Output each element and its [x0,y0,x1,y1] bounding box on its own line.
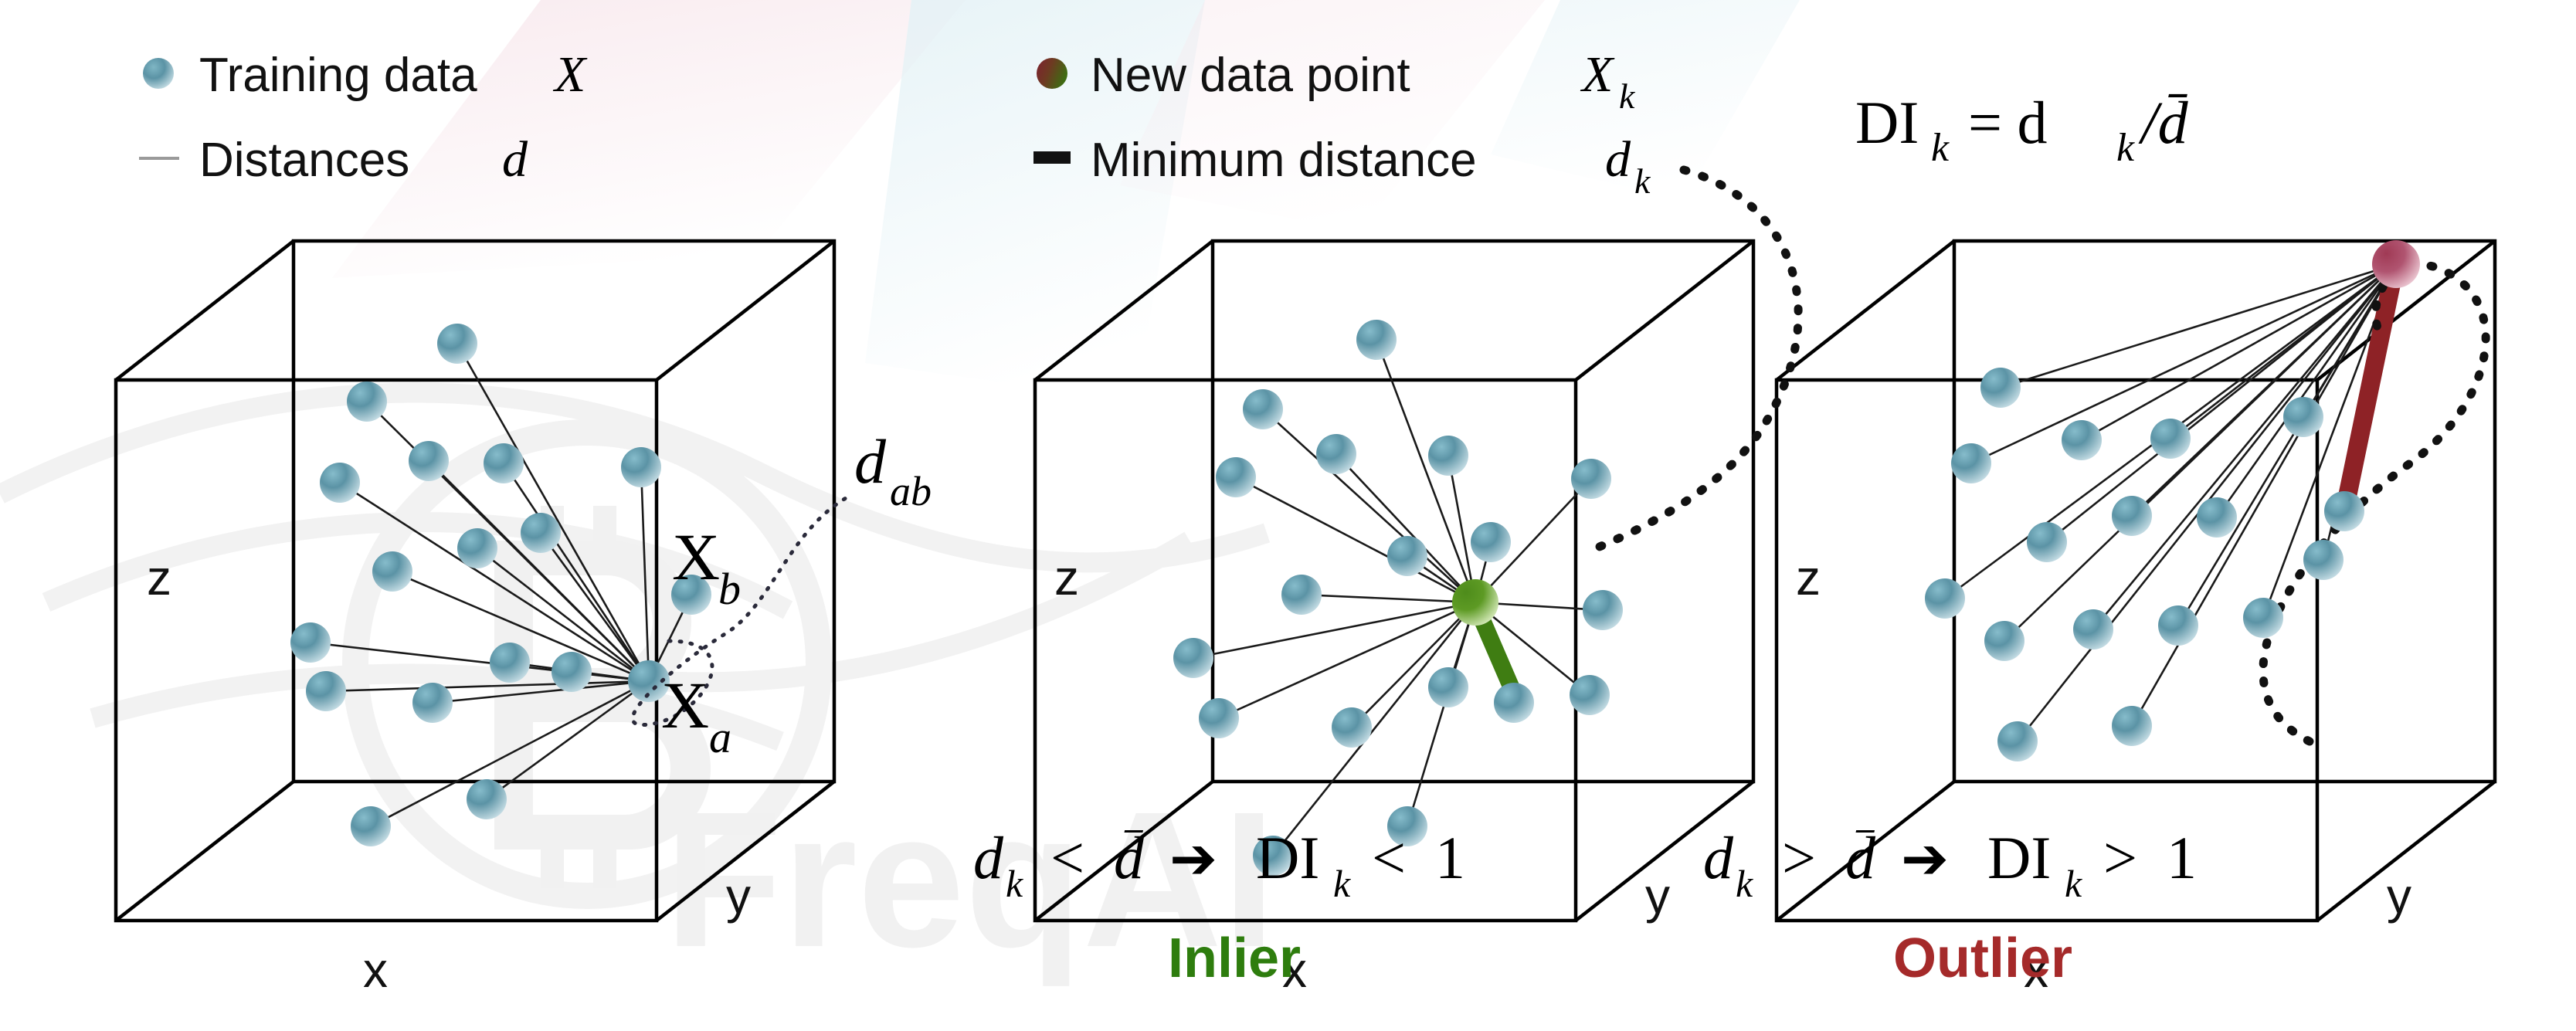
outlier-rhs-sub: k [2065,862,2082,905]
legend-item-minimum-distance: Minimum distance d k [1033,131,1651,201]
di-formula-tail: /d̄ [2138,89,2189,156]
di-formula: DI k = d k /d̄ [1855,89,2189,170]
training-point [552,652,592,692]
new-point-marker-icon [1037,58,1067,89]
inlier-mid-symbol: d̄ [1114,830,1145,891]
legend-symbol-new-data-point: X [1580,46,1615,103]
legend-symbol-distances: d [502,131,528,188]
training-point [2112,496,2152,536]
training-point [2027,522,2067,562]
inlier-lhs-sub: k [1006,862,1023,905]
legend-label-new-data-point: New data point [1091,49,1410,102]
caption-outlier: d k > d̄ ➔ DI k > 1 Outlier [1680,830,2452,1031]
inlier-condition-formula: d k < d̄ ➔ DI k < 1 [973,830,1465,905]
di-formula-sub-k: k [1931,126,1950,170]
axis-label-x-training: x [363,942,388,998]
legend-label-training-data: Training data [199,49,477,102]
training-point [1428,667,1468,707]
training-point-marker-icon [143,58,174,89]
training-point-nearest-outlier [2324,491,2364,531]
training-point [1387,536,1427,576]
axis-z-inlier-wrap: z [1047,541,1201,633]
training-point [1571,459,1611,499]
training-point [1583,590,1623,630]
outlier-relation: > [1782,830,1816,891]
training-point [484,443,524,483]
legend-label-distances: Distances [199,134,409,187]
inlier-lhs-symbol: d [973,830,1004,891]
training-point [457,528,497,568]
inlier-arrow-icon: ➔ [1169,830,1217,891]
di-formula-di: DI [1855,89,1919,156]
training-point [372,551,412,592]
training-points-group-inlier [1173,320,1623,876]
training-point [347,382,387,422]
training-point [2073,609,2113,649]
verdict-inlier: Inlier [1168,928,1301,989]
legend-symbol-sub-minimum-distance: k [1634,161,1651,201]
inlier-relation: < [1050,830,1084,891]
verdict-outlier: Outlier [1893,928,2072,989]
inlier-rhs-symbol: DI [1256,830,1319,891]
caption-inlier: d k < d̄ ➔ DI k < 1 Inlier [950,830,1722,1031]
label-xb-symbol: X [672,520,720,594]
di-formula-sub-k2: k [2116,126,2135,170]
min-distance-marker-icon [1033,151,1071,164]
training-point [290,622,331,663]
legend-symbol-sub-new-data-point: k [1619,76,1636,116]
axis-label-z-outlier: z [1796,550,1821,605]
new-data-point-inlier [1452,579,1498,626]
training-point [2158,605,2198,646]
training-point [521,513,561,553]
training-point [1281,575,1322,615]
training-point [621,447,661,487]
outlier-rhs-symbol: DI [1987,830,2051,891]
inlier-rhs-value: 1 [1435,830,1465,891]
legend: Training data X Distances d New data poi… [0,0,2576,201]
outlier-lhs-symbol: d [1703,830,1734,891]
inlier-rhs-sub: k [1333,862,1351,905]
training-point [412,683,453,723]
training-point [2197,497,2237,538]
legend-item-new-data-point: New data point X k [1037,46,1636,116]
callout-label-dab-symbol: d [854,426,887,497]
training-point [1173,638,1213,678]
training-point [437,324,477,364]
di-formula-equals: = d [1968,89,2048,156]
callout-label-dab-sub: ab [890,468,932,514]
training-point [1316,434,1356,474]
training-point [409,441,449,481]
outlier-rhs-relation: > [2103,830,2137,891]
inlier-rhs-relation: < [1372,830,1406,891]
training-point [1216,457,1256,497]
outlier-rhs-value: 1 [2167,830,2197,891]
axis-label-z-inlier: z [1054,550,1079,605]
training-point [1199,698,1239,738]
training-point [306,671,346,711]
training-point [467,779,507,819]
training-point [320,463,360,503]
training-point [1332,707,1372,748]
axis-z-outlier-wrap: z [1788,541,1943,633]
training-point [351,806,391,846]
training-point [490,643,530,683]
new-data-point-outlier [2372,240,2420,288]
outlier-lhs-sub: k [1736,862,1753,905]
outlier-condition-formula: d k > d̄ ➔ DI k > 1 [1703,830,2197,905]
figure-canvas: FreqAI Training data X Distances [0,0,2576,1022]
training-point [2150,419,2191,459]
legend-symbol-minimum-distance: d [1605,131,1631,188]
training-point [2303,540,2344,580]
training-point [2062,420,2102,460]
training-point [1471,522,1511,562]
legend-item-distances: Distances d [139,131,528,188]
training-point [1428,436,1468,476]
training-point [1243,389,1283,429]
training-point [1356,320,1397,360]
outlier-arrow-icon: ➔ [1901,830,1949,891]
training-point [2243,598,2283,638]
training-point [1570,675,1610,715]
training-point [1984,621,2024,661]
label-xa-symbol: X [661,668,709,742]
training-point [2112,706,2152,746]
training-point [2283,397,2323,437]
label-xa-sub: a [709,712,731,762]
training-point [1997,721,2038,761]
axis-label-y-training: y [726,868,751,924]
legend-item-training-data: Training data X [143,46,588,103]
outlier-mid-symbol: d̄ [1845,830,1876,891]
legend-label-minimum-distance: Minimum distance [1091,134,1477,187]
legend-symbol-training-data: X [552,46,588,103]
training-point [1951,443,1991,483]
axis-z-training-wrap: z [139,541,294,633]
training-point [1980,368,2021,408]
training-point-nearest-inlier [1494,683,1534,723]
axis-label-z-training-visible: z [147,550,171,605]
label-xb-sub: b [718,564,741,614]
